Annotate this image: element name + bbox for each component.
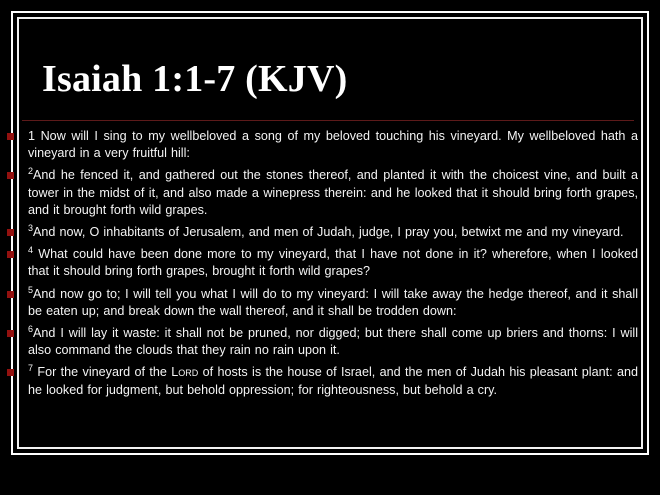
- verse-text-6: 6And I will lay it waste: it shall not b…: [28, 325, 638, 359]
- verse-item-7: 7 For the vineyard of the Lord of hosts …: [0, 364, 660, 398]
- verse-item-6: 6And I will lay it waste: it shall not b…: [0, 325, 660, 359]
- verse-body-4: What could have been done more to my vin…: [28, 247, 638, 278]
- verse-number-1: 1: [28, 129, 35, 143]
- verse-text-5: 5And now go to; I will tell you what I w…: [28, 286, 638, 320]
- bullet-square-icon: [7, 251, 14, 258]
- bullet-square-icon: [7, 229, 14, 236]
- verse-item-3: 3And now, O inhabitants of Jerusalem, an…: [0, 224, 660, 241]
- bullet-square-icon: [7, 369, 14, 376]
- verse-item-1: 1 Now will I sing to my wellbeloved a so…: [0, 128, 660, 162]
- verse-list: 1 Now will I sing to my wellbeloved a so…: [0, 128, 660, 404]
- verse-text-2: 2And he fenced it, and gathered out the …: [28, 167, 638, 219]
- verse-item-2: 2And he fenced it, and gathered out the …: [0, 167, 660, 219]
- verse-text-1: 1 Now will I sing to my wellbeloved a so…: [28, 128, 638, 162]
- verse-body-2: And he fenced it, and gathered out the s…: [28, 168, 638, 216]
- presentation-slide: Isaiah 1:1-7 (KJV) 1 Now will I sing to …: [0, 0, 660, 495]
- title-block: Isaiah 1:1-7 (KJV): [30, 56, 630, 102]
- verse-text-3: 3And now, O inhabitants of Jerusalem, an…: [28, 224, 638, 241]
- verse-item-4: 4 What could have been done more to my v…: [0, 246, 660, 280]
- bullet-square-icon: [7, 291, 14, 298]
- verse-text-4: 4 What could have been done more to my v…: [28, 246, 638, 280]
- slide-title: Isaiah 1:1-7 (KJV): [30, 56, 630, 102]
- title-divider-rule: [22, 120, 634, 121]
- verse-text-7: 7 For the vineyard of the Lord of hosts …: [28, 364, 638, 398]
- verse-body-5: And now go to; I will tell you what I wi…: [28, 287, 638, 318]
- divine-name-lord: Lord: [171, 365, 198, 379]
- bullet-square-icon: [7, 330, 14, 337]
- verse-body-1: Now will I sing to my wellbeloved a song…: [28, 129, 638, 160]
- verse-body-7-pre: For the vineyard of the: [33, 365, 171, 379]
- verse-body-3: And now, O inhabitants of Jerusalem, and…: [33, 225, 623, 239]
- bullet-square-icon: [7, 172, 14, 179]
- verse-body-6: And I will lay it waste: it shall not be…: [28, 326, 638, 357]
- verse-item-5: 5And now go to; I will tell you what I w…: [0, 286, 660, 320]
- bullet-square-icon: [7, 133, 14, 140]
